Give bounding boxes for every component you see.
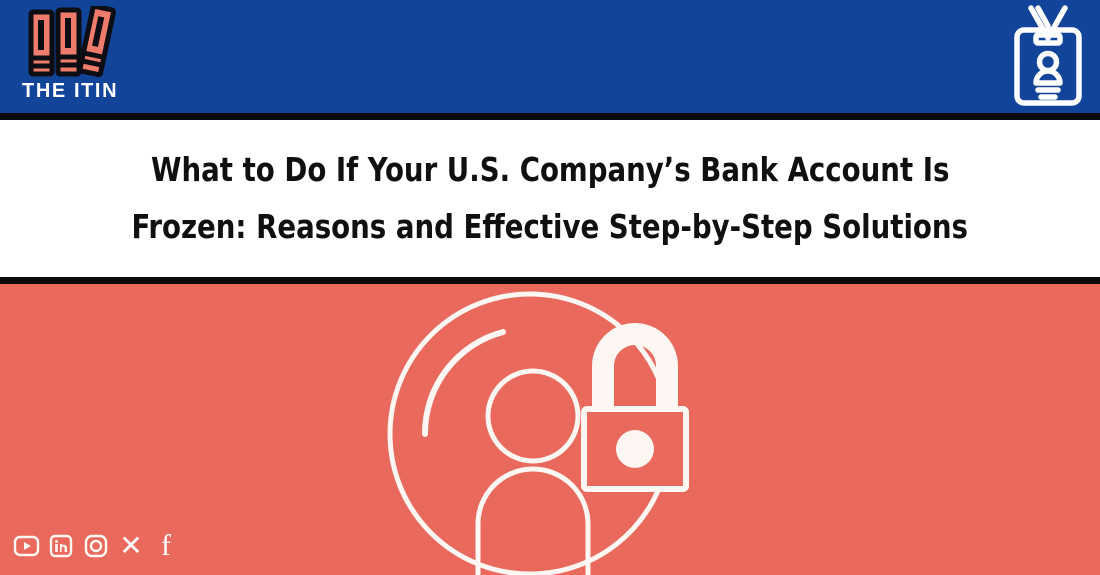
page-title-line-1: What to Do If Your U.S. Company’s Bank A…: [151, 142, 949, 199]
x-twitter-icon[interactable]: ✕: [117, 532, 145, 560]
facebook-glyph: f: [161, 531, 171, 561]
facebook-icon[interactable]: f: [152, 532, 180, 560]
instagram-icon[interactable]: [82, 532, 110, 560]
site-header: THE ITIN: [0, 0, 1100, 113]
page-title-line-2: Frozen: Reasons and Effective Step-by-St…: [132, 199, 969, 256]
padlock-shackle-icon: [603, 334, 667, 414]
divider-bottom: [0, 277, 1100, 284]
youtube-icon[interactable]: [12, 532, 40, 560]
frozen-account-user-lock-illustration: [385, 284, 715, 575]
page-root: THE ITIN What to Do If: [0, 0, 1100, 575]
article-title-band: What to Do If Your U.S. Company’s Bank A…: [0, 120, 1100, 277]
linkedin-icon[interactable]: [47, 532, 75, 560]
hero-band: ✕ f: [0, 284, 1100, 575]
books-icon: [27, 6, 119, 78]
divider-top: [0, 113, 1100, 120]
x-twitter-glyph: ✕: [119, 532, 142, 560]
padlock-keyhole-icon: [616, 430, 654, 468]
social-links: ✕ f: [12, 529, 180, 563]
id-badge-icon: [1008, 4, 1088, 108]
brand-name-label: THE ITIN: [18, 80, 148, 103]
brand-logo[interactable]: THE ITIN: [18, 6, 148, 108]
